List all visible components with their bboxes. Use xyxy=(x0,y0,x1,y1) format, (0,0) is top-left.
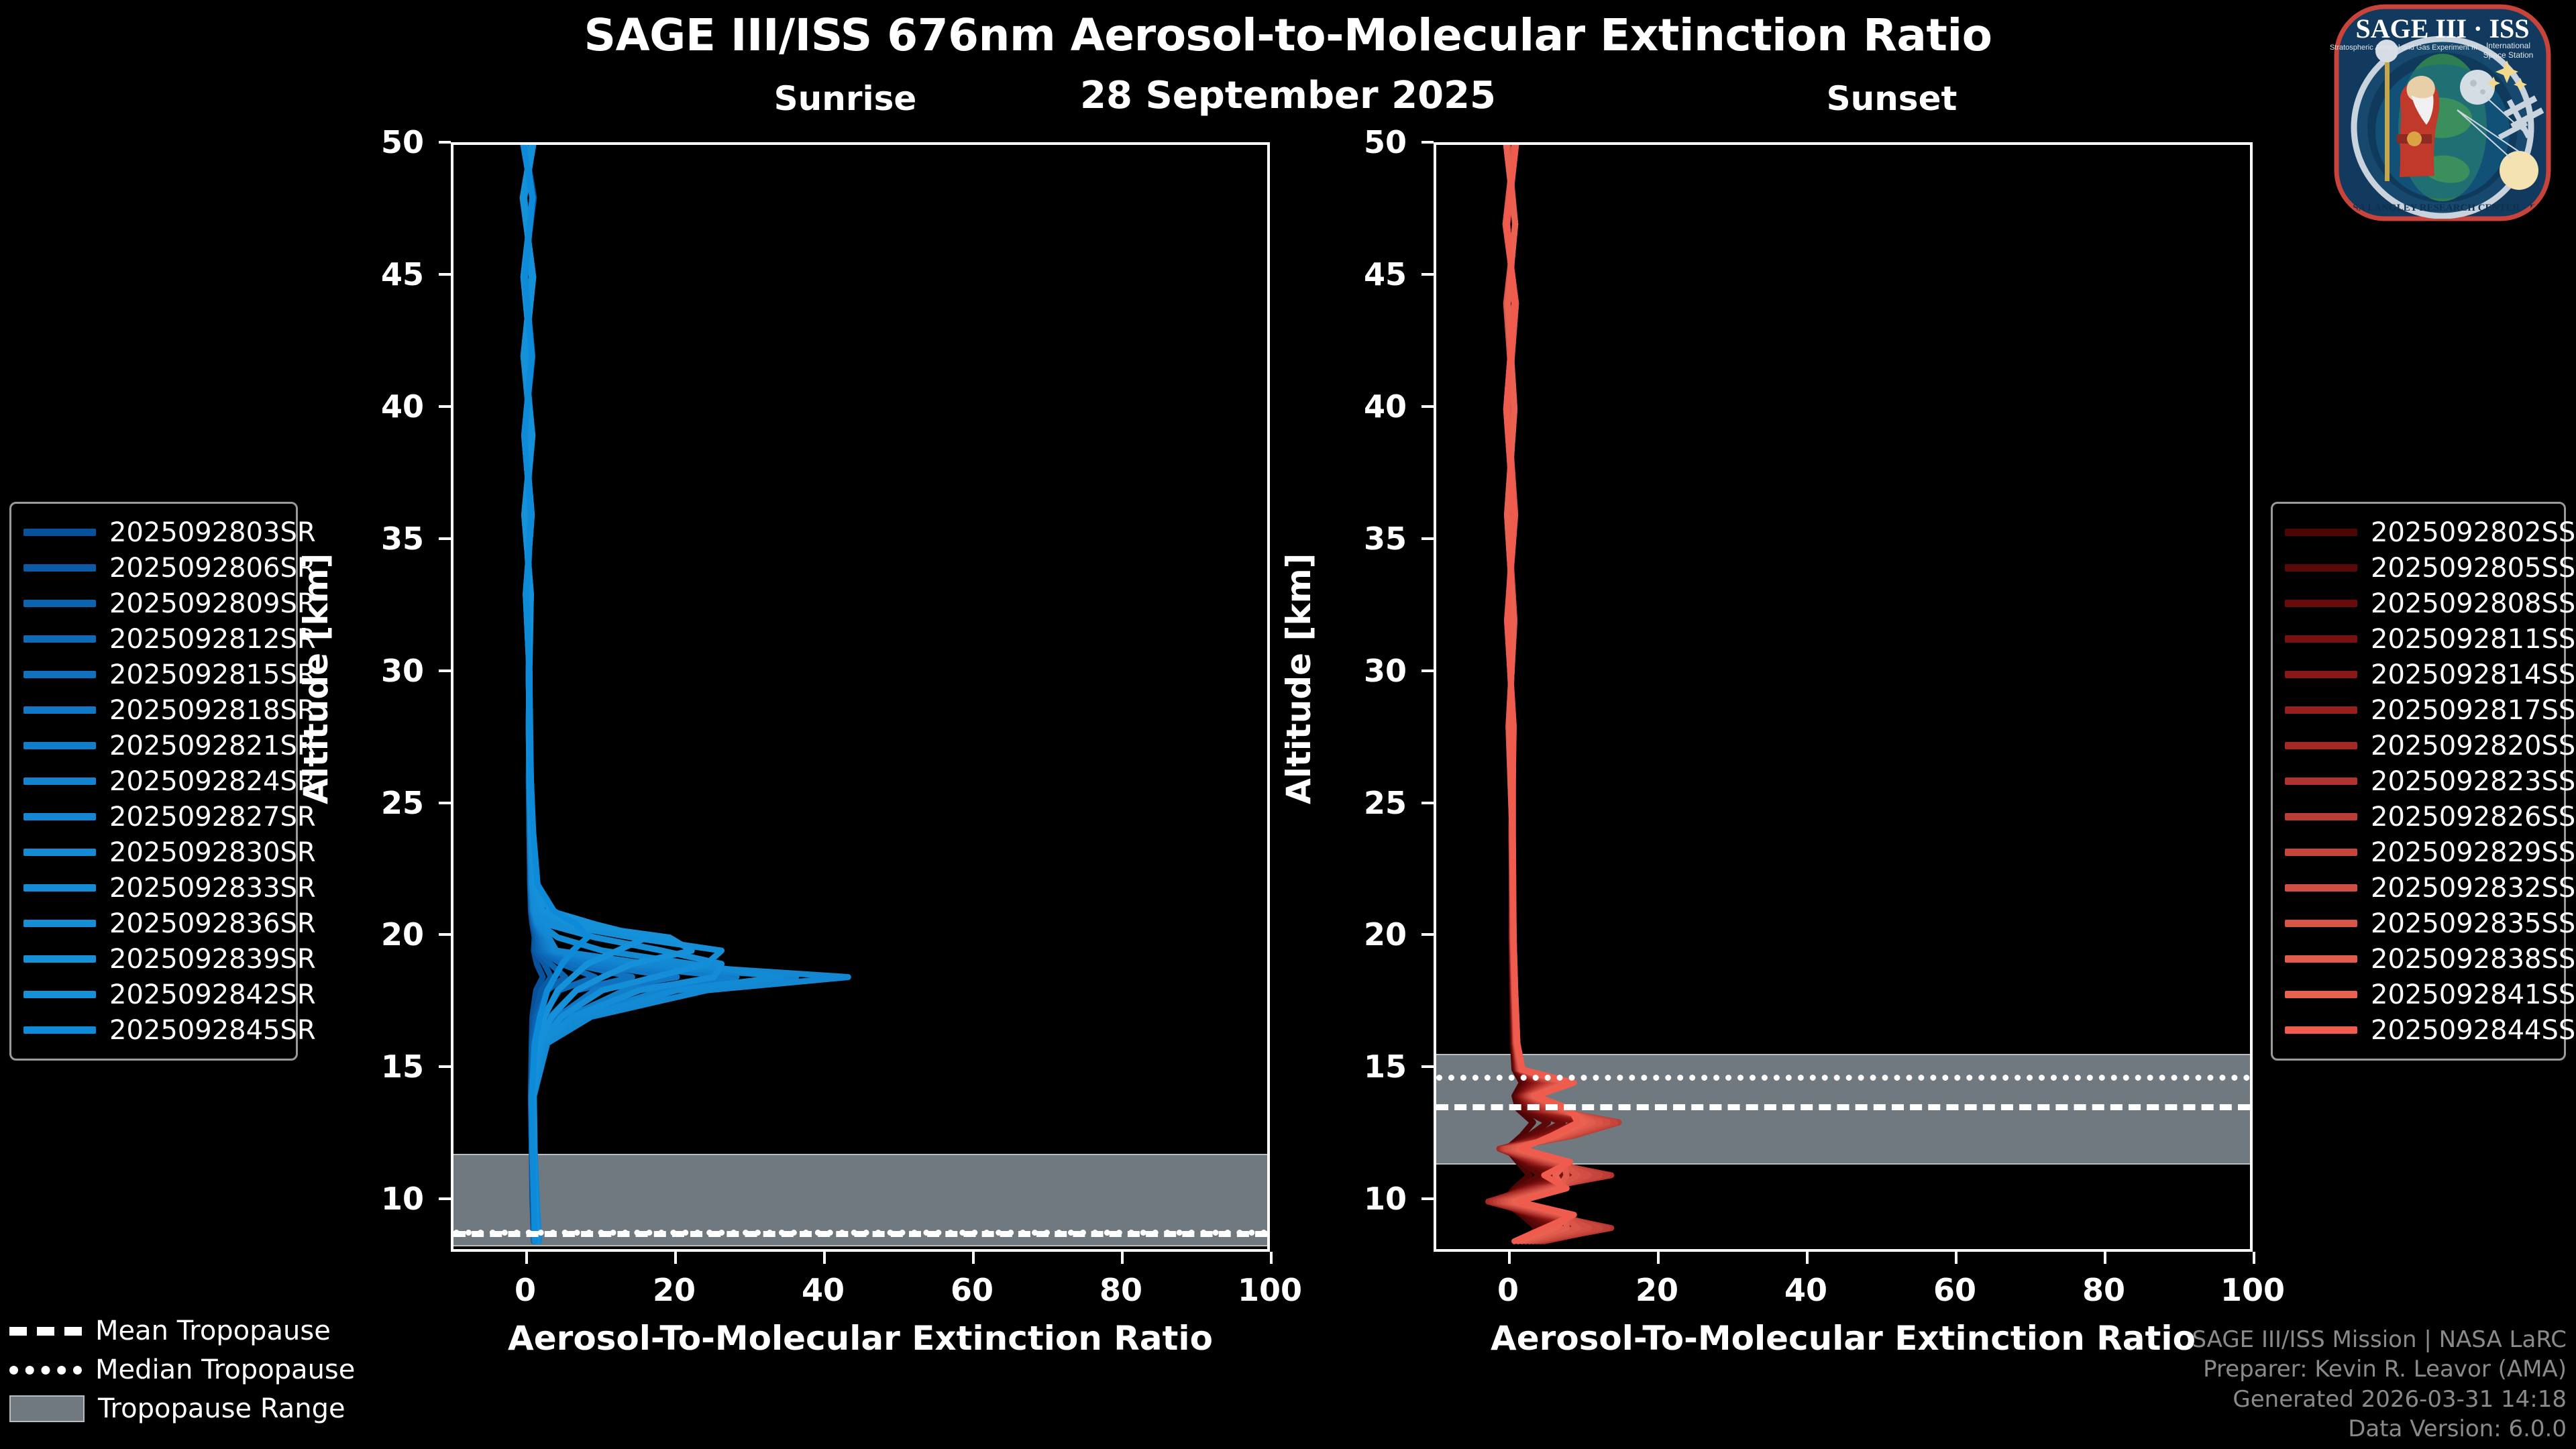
x-axis-tick-label: 80 xyxy=(1054,1272,1188,1308)
legend-color-swatch xyxy=(2285,671,2357,678)
legend-color-swatch xyxy=(2285,564,2357,572)
credits-line-3: Generated 2026-03-31 14:18 xyxy=(2192,1385,2567,1414)
series-layer xyxy=(1436,145,2250,1249)
sunset-x-axis-label: Aerosol-To-Molecular Extinction Ratio xyxy=(1434,1319,2253,1358)
legend-item-label: 2025092835SS xyxy=(2371,908,2575,939)
page-subtitle: 28 September 2025 xyxy=(0,74,2576,117)
x-axis-tick xyxy=(1121,1252,1124,1264)
series-line xyxy=(523,145,721,1241)
y-axis-tick-label: 20 xyxy=(323,916,424,953)
legend-color-swatch xyxy=(23,920,96,927)
legend-item[interactable]: 2025092829SS xyxy=(2285,835,2552,870)
legend-color-swatch xyxy=(2285,529,2357,536)
y-axis-tick xyxy=(1421,1197,1434,1200)
legend-item-label: 2025092802SS xyxy=(2371,517,2575,548)
legend-item[interactable]: 2025092820SS xyxy=(2285,728,2552,763)
y-axis-tick-label: 20 xyxy=(1306,916,1407,953)
x-axis-tick xyxy=(1270,1252,1273,1264)
legend-item[interactable]: 2025092808SS xyxy=(2285,586,2552,621)
y-axis-tick xyxy=(1421,933,1434,936)
y-axis-tick xyxy=(439,537,451,540)
x-axis-tick xyxy=(1955,1252,1957,1264)
legend-item-label: 2025092811SS xyxy=(2371,624,2575,655)
x-axis-tick-label: 100 xyxy=(1203,1272,1337,1308)
legend-color-swatch xyxy=(2285,706,2357,714)
y-axis-tick-label: 45 xyxy=(1306,256,1407,292)
y-axis-tick-label: 45 xyxy=(323,256,424,292)
legend-item[interactable]: 2025092845SR xyxy=(23,1012,284,1048)
legend-color-swatch xyxy=(2285,1026,2357,1034)
legend-color-swatch xyxy=(23,671,96,678)
legend-item[interactable]: 2025092841SS xyxy=(2285,977,2552,1012)
legend-item[interactable]: 2025092818SR xyxy=(23,692,284,728)
svg-text:SAGE III · ISS: SAGE III · ISS xyxy=(2355,13,2529,44)
legend-item[interactable]: 2025092802SS xyxy=(2285,515,2552,550)
y-axis-tick xyxy=(439,405,451,408)
legend-item-label: 2025092806SR xyxy=(109,553,316,584)
x-axis-tick xyxy=(1657,1252,1660,1264)
legend-item[interactable]: 2025092805SS xyxy=(2285,550,2552,586)
y-axis-tick xyxy=(439,1197,451,1200)
legend-item[interactable]: 2025092838SS xyxy=(2285,941,2552,977)
y-axis-tick xyxy=(1421,405,1434,408)
legend-item-label: 2025092830SR xyxy=(109,837,316,868)
legend-color-swatch xyxy=(23,564,96,572)
y-axis-tick xyxy=(1421,273,1434,276)
y-axis-tick-label: 35 xyxy=(323,521,424,557)
legend-item[interactable]: 2025092833SR xyxy=(23,870,284,906)
legend-item-label: 2025092809SR xyxy=(109,588,316,619)
series-line xyxy=(523,145,737,1241)
series-layer xyxy=(453,145,1267,1249)
legend-item-label: 2025092845SR xyxy=(109,1015,316,1046)
legend-color-swatch xyxy=(23,529,96,536)
legend-item[interactable]: 2025092806SR xyxy=(23,550,284,586)
credits-line-1: SAGE III/ISS Mission | NASA LaRC xyxy=(2192,1325,2567,1354)
legend-item-label: 2025092820SS xyxy=(2371,731,2575,761)
legend-label-median-tropopause: Median Tropopause xyxy=(95,1354,355,1385)
legend-color-swatch xyxy=(23,706,96,714)
legend-item-label: 2025092803SR xyxy=(109,517,316,548)
sunset-plot-axes xyxy=(1434,142,2253,1252)
credits-line-2: Preparer: Kevin R. Leavor (AMA) xyxy=(2192,1354,2567,1384)
legend-item[interactable]: 2025092836SR xyxy=(23,906,284,941)
median-tropopause-line xyxy=(1436,1075,2250,1081)
sunrise-legend[interactable]: 2025092803SR2025092806SR2025092809SR2025… xyxy=(9,502,298,1061)
x-axis-tick xyxy=(2104,1252,2106,1264)
legend-item[interactable]: 2025092842SR xyxy=(23,977,284,1012)
legend-item[interactable]: 2025092844SS xyxy=(2285,1012,2552,1048)
series-line xyxy=(523,145,588,1241)
legend-color-swatch xyxy=(2285,955,2357,963)
y-axis-tick-label: 50 xyxy=(1306,124,1407,160)
legend-item-label: 2025092838SS xyxy=(2371,944,2575,975)
series-line xyxy=(523,145,848,1241)
legend-item[interactable]: 2025092827SR xyxy=(23,799,284,835)
y-axis-tick xyxy=(439,669,451,672)
x-axis-tick xyxy=(525,1252,528,1264)
legend-item-label: 2025092836SR xyxy=(109,908,316,939)
y-axis-tick-label: 30 xyxy=(1306,653,1407,689)
x-axis-tick xyxy=(1806,1252,1809,1264)
y-axis-tick xyxy=(439,1065,451,1068)
y-axis-tick-label: 10 xyxy=(1306,1181,1407,1217)
x-axis-tick-label: 0 xyxy=(1441,1272,1575,1308)
legend-item-label: 2025092832SS xyxy=(2371,873,2575,904)
legend-item-label: 2025092827SR xyxy=(109,802,316,833)
y-axis-tick xyxy=(439,802,451,804)
sunrise-plot-axes xyxy=(451,142,1270,1252)
x-axis-tick-label: 60 xyxy=(905,1272,1039,1308)
legend-color-swatch xyxy=(23,742,96,749)
x-axis-tick xyxy=(972,1252,975,1264)
series-line xyxy=(523,145,721,1241)
legend-item[interactable]: 2025092826SS xyxy=(2285,799,2552,835)
x-axis-tick-label: 20 xyxy=(607,1272,741,1308)
legend-item-label: 2025092833SR xyxy=(109,873,316,904)
legend-color-swatch xyxy=(23,1026,96,1034)
legend-item-label: 2025092815SR xyxy=(109,659,316,690)
legend-item-label: 2025092823SS xyxy=(2371,766,2575,797)
legend-item-label: 2025092826SS xyxy=(2371,802,2575,833)
x-axis-tick-label: 60 xyxy=(1888,1272,2022,1308)
y-axis-tick-label: 25 xyxy=(1306,785,1407,821)
dashed-line-icon xyxy=(9,1327,82,1336)
x-axis-tick-label: 80 xyxy=(2037,1272,2171,1308)
x-axis-tick xyxy=(823,1252,826,1264)
legend-color-swatch xyxy=(2285,635,2357,643)
legend-color-swatch xyxy=(23,813,96,820)
mean-tropopause-line xyxy=(1436,1104,2250,1110)
sunset-legend[interactable]: 2025092802SS2025092805SS2025092808SS2025… xyxy=(2271,502,2566,1061)
legend-item-label: 2025092821SR xyxy=(109,731,316,761)
y-axis-tick-label: 40 xyxy=(323,388,424,425)
dotted-line-icon xyxy=(9,1366,82,1375)
svg-text:International: International xyxy=(2486,41,2530,50)
legend-item[interactable]: 2025092811SS xyxy=(2285,621,2552,657)
legend-color-swatch xyxy=(23,600,96,607)
legend-item[interactable]: 2025092817SS xyxy=(2285,692,2552,728)
legend-color-swatch xyxy=(2285,813,2357,820)
legend-item[interactable]: 2025092830SR xyxy=(23,835,284,870)
legend-color-swatch xyxy=(2285,777,2357,785)
legend-color-swatch xyxy=(2285,920,2357,927)
svg-text:Stratospheric Aerosol and Gas: Stratospheric Aerosol and Gas Experiment… xyxy=(2330,44,2477,52)
sunrise-x-axis-label: Aerosol-To-Molecular Extinction Ratio xyxy=(451,1319,1270,1358)
sunset-panel-title: Sunset xyxy=(1717,79,2066,118)
x-axis-tick-label: 40 xyxy=(756,1272,890,1308)
legend-item[interactable]: 2025092814SS xyxy=(2285,657,2552,692)
legend-item[interactable]: 2025092809SR xyxy=(23,586,284,621)
legend-label-tropopause-range: Tropopause Range xyxy=(98,1393,345,1424)
legend-color-swatch xyxy=(2285,991,2357,998)
legend-item[interactable]: 2025092803SR xyxy=(23,515,284,550)
series-line xyxy=(523,145,677,1241)
y-axis-tick xyxy=(1421,537,1434,540)
legend-item-label: 2025092824SR xyxy=(109,766,316,797)
legend-item-label: 2025092818SR xyxy=(109,695,316,726)
x-axis-tick-label: 0 xyxy=(458,1272,592,1308)
legend-item-label: 2025092841SS xyxy=(2371,979,2575,1010)
legend-item-median-tropopause: Median Tropopause xyxy=(9,1350,358,1389)
y-axis-tick xyxy=(1421,669,1434,672)
y-axis-tick xyxy=(1421,141,1434,144)
legend-item[interactable]: 2025092832SS xyxy=(2285,870,2552,906)
x-axis-tick-label: 20 xyxy=(1590,1272,1724,1308)
x-axis-tick-label: 40 xyxy=(1739,1272,1873,1308)
legend-item-label: 2025092805SS xyxy=(2371,553,2575,584)
y-axis-tick-label: 40 xyxy=(1306,388,1407,425)
legend-label-mean-tropopause: Mean Tropopause xyxy=(95,1316,331,1346)
legend-item-label: 2025092829SS xyxy=(2371,837,2575,868)
x-axis-tick xyxy=(1508,1252,1511,1264)
y-axis-tick-label: 15 xyxy=(1306,1049,1407,1085)
y-axis-tick-label: 35 xyxy=(1306,521,1407,557)
legend-item[interactable]: 2025092839SR xyxy=(23,941,284,977)
legend-item[interactable]: 2025092815SR xyxy=(23,657,284,692)
legend-color-swatch xyxy=(2285,742,2357,749)
legend-item[interactable]: 2025092812SR xyxy=(23,621,284,657)
legend-item[interactable]: 2025092823SS xyxy=(2285,763,2552,799)
y-axis-tick-label: 25 xyxy=(323,785,424,821)
x-axis-tick xyxy=(674,1252,677,1264)
y-axis-tick xyxy=(1421,1065,1434,1068)
legend-item-label: 2025092808SS xyxy=(2371,588,2575,619)
y-axis-tick-label: 15 xyxy=(323,1049,424,1085)
y-axis-tick-label: 10 xyxy=(323,1181,424,1217)
band-swatch-icon xyxy=(9,1395,85,1422)
legend-color-swatch xyxy=(2285,884,2357,892)
series-line xyxy=(523,145,692,1241)
x-axis-tick-label: 100 xyxy=(2186,1272,2320,1308)
series-line xyxy=(523,145,781,1241)
legend-item-label: 2025092814SS xyxy=(2371,659,2575,690)
legend-item-tropopause-range: Tropopause Range xyxy=(9,1389,358,1428)
y-axis-tick xyxy=(439,141,451,144)
legend-item-label: 2025092839SR xyxy=(109,944,316,975)
legend-item-mean-tropopause: Mean Tropopause xyxy=(9,1311,358,1350)
legend-item-label: 2025092817SS xyxy=(2371,695,2575,726)
svg-text:Space Station: Space Station xyxy=(2483,50,2534,60)
legend-color-swatch xyxy=(23,849,96,856)
y-axis-tick xyxy=(1421,802,1434,804)
sunrise-panel-title: Sunrise xyxy=(671,79,1020,118)
legend-item[interactable]: 2025092835SS xyxy=(2285,906,2552,941)
y-axis-tick-label: 50 xyxy=(323,124,424,160)
median-tropopause-line xyxy=(453,1230,1267,1236)
legend-color-swatch xyxy=(23,635,96,643)
legend-color-swatch xyxy=(2285,600,2357,607)
series-line xyxy=(523,145,796,1241)
legend-color-swatch xyxy=(23,955,96,963)
legend-color-swatch xyxy=(23,777,96,785)
legend-item-label: 2025092842SR xyxy=(109,979,316,1010)
sage-iii-iss-logo: BALL · NASA LANGLEY RESEARCH CENTER · TA… xyxy=(2318,3,2566,224)
legend-item[interactable]: 2025092824SR xyxy=(23,763,284,799)
legend-item-label: 2025092812SR xyxy=(109,624,316,655)
y-axis-tick-label: 30 xyxy=(323,653,424,689)
legend-color-swatch xyxy=(23,991,96,998)
legend-item-label: 2025092844SS xyxy=(2371,1015,2575,1046)
y-axis-tick xyxy=(439,933,451,936)
legend-color-swatch xyxy=(23,884,96,892)
credits-line-4: Data Version: 6.0.0 xyxy=(2192,1414,2567,1444)
legend-color-swatch xyxy=(2285,849,2357,856)
legend-item[interactable]: 2025092821SR xyxy=(23,728,284,763)
credits-block: SAGE III/ISS Mission | NASA LaRC Prepare… xyxy=(2192,1325,2567,1444)
tropopause-legend: Mean Tropopause Median Tropopause Tropop… xyxy=(9,1311,358,1428)
y-axis-tick xyxy=(439,273,451,276)
x-axis-tick xyxy=(2253,1252,2255,1264)
page-title: SAGE III/ISS 676nm Aerosol-to-Molecular … xyxy=(0,9,2576,61)
